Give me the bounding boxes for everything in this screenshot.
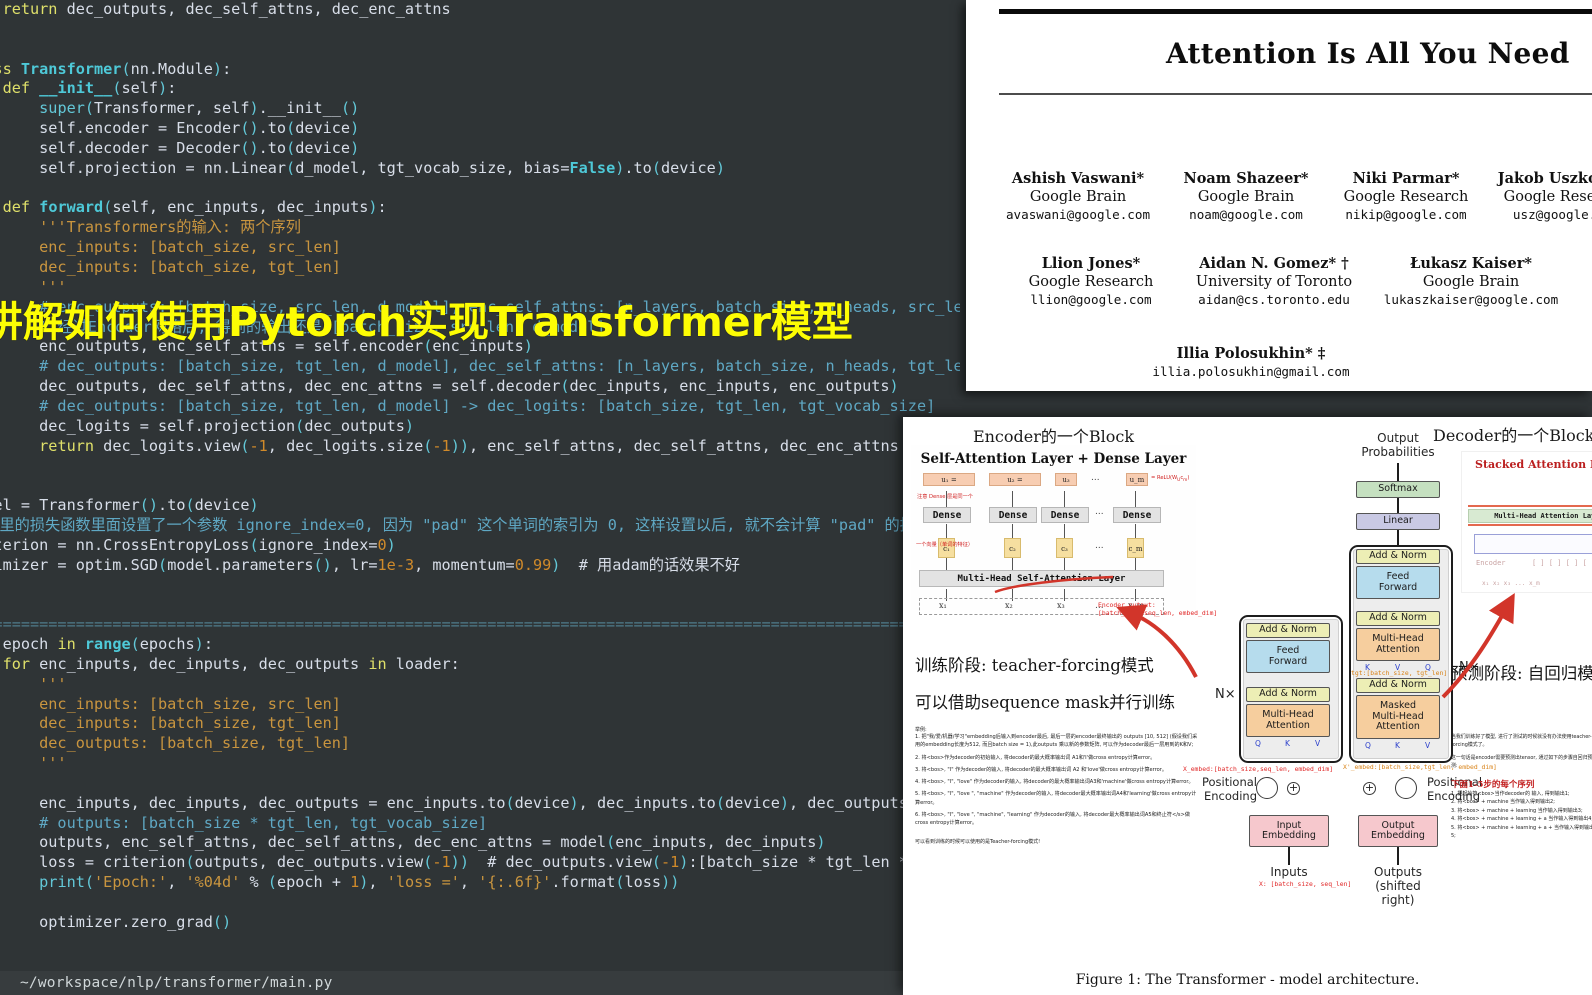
author-affiliation: University of Toronto <box>1169 274 1379 290</box>
paper-title: Attention Is All You Need <box>966 37 1592 70</box>
editor-statusbar: ~/workspace/nlp/transformer/main.py <box>0 971 960 995</box>
author-affiliation: Google Research <box>986 274 1196 290</box>
paper-author: Llion Jones* Google Research llion@googl… <box>986 255 1196 307</box>
prediction-red-line: 下面1-5步的每个序列 <box>1451 778 1592 790</box>
arrow <box>946 524 947 538</box>
dense-box: Dense <box>989 507 1037 523</box>
output-probabilities-label: Output Probabilities <box>1343 431 1453 459</box>
prediction-p1: 当我们训练好了模型, 进行了测试的时候就没有办法使用teacher-forcin… <box>1451 734 1592 749</box>
input-embedding-box: Input Embedding <box>1249 815 1329 847</box>
training-heading-1: 训练阶段: teacher-forcing模式 <box>915 652 1200 676</box>
paper-author: Illia Polosukhin* ‡ illia.polosukhin@gma… <box>1146 345 1356 379</box>
positional-encoding-label-left: Positional Encoding <box>1201 775 1257 803</box>
training-list-item: 3. 将<bos>, "I" 作为decoder的输入, 将decoder的最大… <box>915 766 1200 774</box>
author-affiliation: Google Brain <box>1366 274 1576 290</box>
h-dots: ... <box>1091 473 1100 483</box>
prediction-list-item: 2. 将<bos> + machine 当作输入得到输出2; <box>1451 798 1592 806</box>
author-name: Aidan N. Gomez* † <box>1169 255 1379 272</box>
positional-encoding-sine-icon <box>1256 777 1278 799</box>
arrow <box>946 558 947 570</box>
encoder-row-cells: [ ] [ ] [ ] [ ] <box>1532 559 1592 567</box>
encoder-multi-head-attention: Multi-Head Attention <box>1246 704 1330 737</box>
author-email: llion@google.com <box>986 292 1196 307</box>
paper-screenshot-panel: Attention Is All You Need Ashish Vaswani… <box>966 0 1592 391</box>
screen-root: return dec_outputs, dec_self_attns, dec_… <box>0 0 1592 995</box>
multi-head-attention-bar: Multi-Head Attention Layer <box>1468 509 1592 523</box>
cm-box: c_m <box>1127 538 1144 558</box>
annotation-tgt: tgt:[batch_size, tgt_len] <box>1351 669 1447 677</box>
prediction-list-item: 4. 将<bos> + machine + learning + a 当作输入得… <box>1451 815 1592 823</box>
training-list-item: 2. 将<bos>作为decoder的初始输入, 将decoder的最大概率输出… <box>915 754 1200 762</box>
prediction-list-item: 5. 将<bos> + machine + learning + a + 当作输… <box>1451 824 1592 841</box>
v-label: V <box>1425 741 1430 750</box>
arrow <box>1288 847 1290 865</box>
masked-multi-head-attention: Masked Multi-Head Attention <box>1356 695 1440 739</box>
arrow <box>1135 558 1136 570</box>
arrow <box>1397 463 1399 481</box>
paper-rule-top <box>999 9 1592 14</box>
paper-author: Aidan N. Gomez* † University of Toronto … <box>1169 255 1379 307</box>
dense-red-note: 注意 Dense 层是同一个 <box>917 493 973 500</box>
h3-box: u₃ <box>1055 473 1077 486</box>
training-heading-2: 可以借助sequence mask并行训练 <box>915 689 1200 713</box>
encoder-add-norm-2: Add & Norm <box>1246 623 1330 638</box>
positional-encoding-sine-icon <box>1395 777 1417 799</box>
softmax-box: Softmax <box>1356 481 1440 498</box>
dense-box: Dense <box>923 507 971 523</box>
h2-box: u₂ = ReLU(W₂c₂) <box>989 473 1041 486</box>
prediction-p2: 这一句话是encoder需要预测出tensor, 通过如下的步骤自回归预测: <box>1451 755 1592 770</box>
c-red-note: 一个向量（单词的特征） <box>916 541 973 548</box>
encoder-add-norm-1: Add & Norm <box>1246 687 1330 702</box>
code-text-area[interactable]: return dec_outputs, dec_self_attns, dec_… <box>0 0 960 933</box>
add-icon: + <box>1363 782 1376 795</box>
transformer-architecture-figure: Output Probabilities Softmax Linear Add … <box>1203 425 1443 985</box>
paper-author: Jakob Uszkoreit* Google Research usz@goo… <box>1461 170 1592 222</box>
prediction-list-item: 1. 把起始符<bos>当作decoder的 输入, 得到输出1; <box>1451 790 1592 798</box>
encoder-block-header: Encoder的一个Block <box>911 423 1196 447</box>
code-editor-pane[interactable]: return dec_outputs, dec_self_attns, dec_… <box>0 0 960 995</box>
multi-head-self-attention-bar: Multi-Head Self-Attention Layer <box>919 570 1164 587</box>
decoder-inner-figure: Stacked Attention Layer Multi-Head Atten… <box>1461 451 1592 593</box>
arrow <box>1397 530 1399 545</box>
paper-rule-bottom <box>999 93 1592 95</box>
author-email: lukaszkaiser@google.com <box>1366 292 1576 307</box>
x3-label: x₃ <box>1057 601 1065 610</box>
prediction-stage-text: 预测阶段: 自回归模式 当我们训练好了模型, 进行了测试的时候就没有办法使用te… <box>1451 660 1592 840</box>
author-affiliation: Google Research <box>1461 189 1592 205</box>
add-icon: + <box>1287 782 1300 795</box>
red-line-top <box>1468 505 1592 507</box>
inputs-label: Inputs <box>1249 865 1329 879</box>
hm-formula-label: = ReLU(WUcm) <box>1151 475 1189 483</box>
author-name: Illia Polosukhin* ‡ <box>1146 345 1356 362</box>
annotation-x-embed: X_embed:[batch_size,seq_len, embed_dim] <box>1183 765 1333 773</box>
training-footer: 可以看到训练的时候可以使用的是Teacher-forcing模式! <box>915 838 1200 845</box>
training-list-item: 5. 将<bos>, "I", "love ", "machine" 作为dec… <box>915 790 1200 807</box>
figure-caption: Figure 1: The Transformer - model archit… <box>903 972 1592 988</box>
outputs-label: Outputs (shifted right) <box>1358 865 1438 907</box>
hm-box: u_m = ReLU(W_U c_m) <box>1126 473 1148 486</box>
decoder-add-norm-2: Add & Norm <box>1356 611 1440 626</box>
arrow <box>1397 498 1399 513</box>
author-email: illia.polosukhin@gmail.com <box>1146 364 1356 379</box>
arrow <box>1135 524 1136 538</box>
annotation-x: X: [batch_size, seq_len] <box>1259 880 1351 888</box>
v-label: V <box>1315 739 1320 748</box>
dense-box: Dense <box>1113 507 1161 523</box>
arrow <box>1012 491 1013 507</box>
dense-dots: ... <box>1095 507 1104 517</box>
encoder-block-subheader: Self-Attention Layer + Dense Layer <box>911 451 1196 467</box>
output-embedding-box: Output Embedding <box>1358 815 1438 847</box>
decoder-block-figure: Decoder的一个Block Stacked Attention Layer … <box>1433 425 1591 605</box>
encoder-block-figure: Encoder的一个Block Self-Attention Layer + D… <box>911 445 1196 610</box>
training-stage-text: 训练阶段: teacher-forcing模式 可以借助sequence mas… <box>915 652 1200 845</box>
x-inputs-row: x₁ x₂ x₃ ... x_m <box>1482 580 1540 587</box>
author-name: Jakob Uszkoreit* <box>1461 170 1592 187</box>
training-list-item: 1. 把"我/爱/机器/学习"embedding后输入到encoder最后, 最… <box>915 733 1200 750</box>
c-dots: ... <box>1095 541 1104 551</box>
prediction-heading: 预测阶段: 自回归模式 <box>1451 660 1592 684</box>
k-label: K <box>1285 739 1290 748</box>
arrow <box>1064 524 1065 538</box>
arrow <box>1397 847 1399 865</box>
arrow <box>1012 524 1013 538</box>
decoder-multi-head-attention: Multi-Head Attention <box>1356 628 1440 661</box>
h1-box: u₁ = ReLU(W₁c₁) <box>923 473 975 486</box>
x1-label: x₁ <box>939 601 947 610</box>
arrow <box>1135 491 1136 507</box>
dense-box: Dense <box>1041 507 1089 523</box>
transformer-diagram-panel: Encoder的一个Block Self-Attention Layer + D… <box>903 417 1592 995</box>
arrow <box>1064 491 1065 507</box>
paper-author: Łukasz Kaiser* Google Brain lukaszkaiser… <box>1366 255 1576 307</box>
decoder-feed-forward: Feed Forward <box>1356 566 1440 599</box>
training-list-item: 4. 将<bos>, "I", "love" 作为decoder的输入, 将de… <box>915 778 1200 786</box>
decoder-add-norm-3: Add & Norm <box>1356 549 1440 564</box>
c2-box: c₂ <box>1004 538 1021 558</box>
encoder-label: Encoder <box>1476 559 1506 567</box>
red-line-bottom <box>1468 524 1592 526</box>
k-label: K <box>1395 741 1400 750</box>
linear-box: Linear <box>1356 513 1440 530</box>
decoder-block-header: Decoder的一个Block <box>1433 422 1592 446</box>
training-list-title: 举例: <box>915 726 1200 733</box>
x2-label: x₂ <box>1005 601 1013 610</box>
c3-box: c₃ <box>1056 538 1073 558</box>
q-label: Q <box>1255 739 1261 748</box>
attention-vector-row <box>1474 534 1592 554</box>
stacked-attention-title: Stacked Attention Layer <box>1462 458 1592 471</box>
file-path-label: ~/workspace/nlp/transformer/main.py <box>20 975 333 991</box>
training-list-item: 6. 将<bos>, "I", "love ", "machine", "lea… <box>915 811 1200 828</box>
author-email: usz@google.com <box>1461 207 1592 222</box>
author-name: Łukasz Kaiser* <box>1366 255 1576 272</box>
prediction-list-item: 3. 将<bos> + machine + learning 当作输入得到输出3… <box>1451 807 1592 815</box>
author-name: Llion Jones* <box>986 255 1196 272</box>
encoder-feed-forward: Feed Forward <box>1246 640 1330 673</box>
arrow <box>1064 558 1065 570</box>
annotation-encoder-output: Encoder_output: [batch_size,seq_len, emb… <box>1098 601 1217 617</box>
encoder-nx-label: N× <box>1215 687 1236 702</box>
arrow <box>946 491 947 507</box>
video-overlay-title: 讲解如何使用Pytorch实现Transformer模型 <box>0 296 992 348</box>
arrow <box>1012 558 1013 570</box>
q-label: Q <box>1365 741 1371 750</box>
decoder-add-norm-1: Add & Norm <box>1356 678 1440 693</box>
author-email: aidan@cs.toronto.edu <box>1169 292 1379 307</box>
